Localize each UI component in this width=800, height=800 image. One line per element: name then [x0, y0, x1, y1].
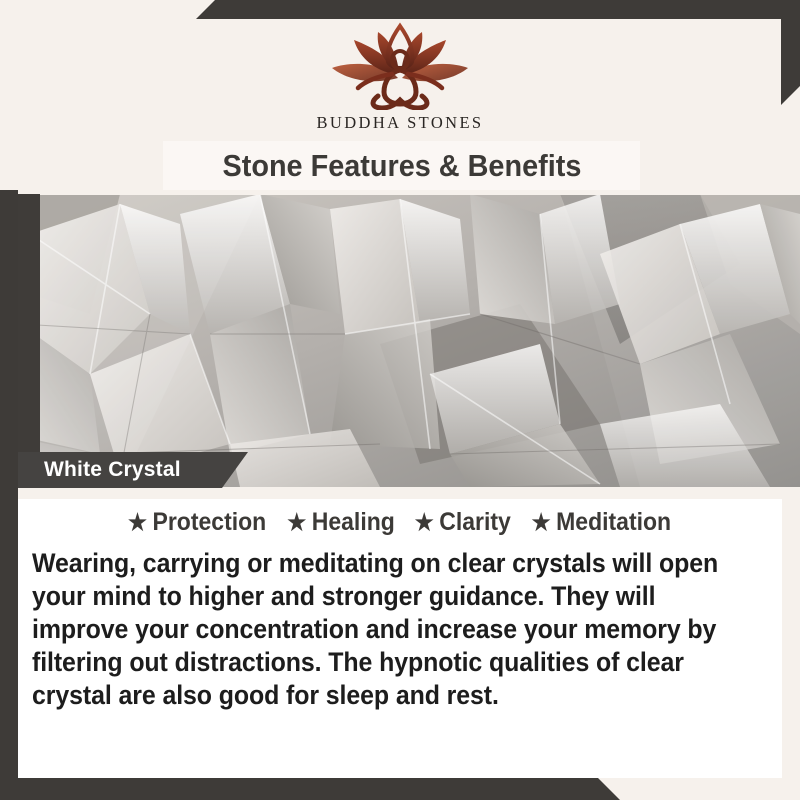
stone-description: Wearing, carrying or meditating on clear… — [32, 547, 724, 712]
benefit-label: Meditation — [557, 508, 672, 537]
benefit-label: Clarity — [439, 508, 511, 537]
star-icon: ★ — [287, 511, 306, 534]
stone-name-text: White Crystal — [44, 458, 181, 482]
benefit-label: Protection — [152, 508, 266, 537]
benefits-row: ★ Protection ★ Healing ★ Clarity ★ Medit… — [18, 508, 782, 537]
benefit-label: Healing — [312, 508, 395, 537]
white-crystal-cluster-photo — [0, 194, 800, 487]
star-icon: ★ — [532, 511, 551, 534]
star-icon: ★ — [415, 511, 434, 534]
star-icon: ★ — [128, 511, 147, 534]
stone-benefits-poster: BUDDHA STONES — [0, 0, 800, 800]
brand-logo: BUDDHA STONES — [0, 22, 800, 133]
frame-accent-left — [0, 190, 18, 800]
divider-strip — [0, 487, 800, 499]
page-title: Stone Features & Benefits — [222, 148, 581, 184]
stone-name-badge: White Crystal — [18, 452, 248, 488]
benefit-item-meditation: ★ Meditation — [522, 508, 672, 537]
frame-accent-bottom — [0, 778, 800, 800]
title-banner: Stone Features & Benefits — [163, 141, 640, 190]
benefit-item-clarity: ★ Clarity — [405, 508, 511, 537]
brand-name: BUDDHA STONES — [0, 113, 800, 133]
benefit-item-protection: ★ Protection — [128, 508, 266, 537]
lotus-meditation-icon — [320, 22, 480, 110]
photo-left-shade — [18, 194, 40, 487]
benefit-item-healing: ★ Healing — [277, 508, 395, 537]
content-panel: ★ Protection ★ Healing ★ Clarity ★ Medit… — [18, 499, 782, 778]
